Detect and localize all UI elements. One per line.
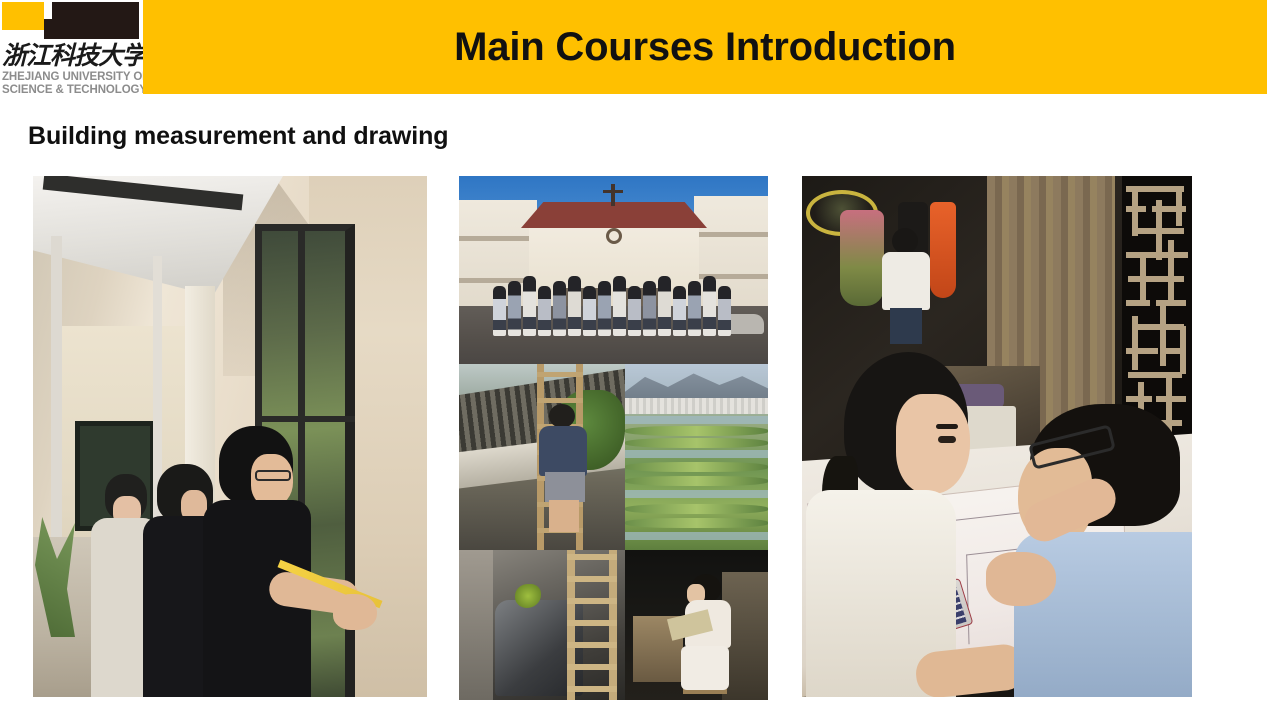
photo2-group-member xyxy=(493,286,506,336)
photo2-group-member xyxy=(598,281,611,336)
photo1-hand-on-wall xyxy=(333,594,377,630)
photo2-wooden-ladder xyxy=(567,550,617,700)
photo2-student-group xyxy=(493,274,733,336)
photo2-ladder-rung xyxy=(567,664,617,670)
logo-name-english-line2: SCIENCE & TECHNOLOGY xyxy=(2,84,143,97)
photo2-group-member xyxy=(583,286,596,336)
photo1-student-front xyxy=(197,426,337,697)
photo3-left-student-face xyxy=(896,394,970,494)
photo2-panel-landscape xyxy=(625,364,768,550)
photo2-landscape-band xyxy=(625,476,768,486)
photo2-climber-shirt xyxy=(539,426,587,476)
photo2-cross-icon xyxy=(611,184,615,206)
photo3-lattice-bar xyxy=(1132,316,1138,370)
photo-drafting-indoors xyxy=(802,176,1192,697)
photo3-left-student-eye xyxy=(938,436,956,443)
photo2-group-member xyxy=(628,286,641,336)
photo2-group-member xyxy=(553,281,566,336)
photo2-ladder-rung xyxy=(567,576,617,582)
photo2-group-member xyxy=(523,276,536,336)
photo3-lattice-bar xyxy=(1176,186,1182,226)
photo2-stone-wall xyxy=(459,550,493,700)
photo3-student-drawing-left xyxy=(820,352,1000,697)
photo1-window-rail xyxy=(255,416,355,422)
photo2-ladder-rung xyxy=(567,598,617,604)
photo2-panel-ladder-survey xyxy=(459,364,625,550)
slide-subtitle: Building measurement and drawing xyxy=(28,122,448,151)
photo2-group-member xyxy=(718,286,731,336)
photo2-landscape-band xyxy=(625,504,768,514)
photo3-lattice-bar xyxy=(1132,324,1184,330)
photo3-right-student-hand xyxy=(986,552,1056,606)
photo2-bottom-row xyxy=(459,550,768,700)
photo2-ladder-rung xyxy=(537,398,583,403)
photo2-student-sketching xyxy=(677,574,739,698)
photo1-canopy-post-left xyxy=(51,236,62,566)
logo-dark-rectangle-icon xyxy=(52,2,139,39)
photo2-ladder-rung xyxy=(567,554,617,560)
photo3-lattice-bar xyxy=(1140,252,1146,306)
photo3-lattice-bar xyxy=(1132,186,1138,236)
photo3-hanging-cloth-pink xyxy=(840,210,884,306)
photo2-cross-arm-icon xyxy=(603,190,623,193)
page-title: Main Courses Introduction xyxy=(143,0,1267,94)
photo3-lattice-bar xyxy=(1168,240,1174,300)
photo2-landscape-band xyxy=(625,518,768,528)
photo2-ladder-rung xyxy=(567,642,617,648)
photo3-lattice-bar xyxy=(1128,372,1182,378)
logo-mark xyxy=(2,2,141,44)
photo3-lattice-bar xyxy=(1126,348,1158,354)
photo2-group-member xyxy=(508,281,521,336)
photo2-group-member xyxy=(643,281,656,336)
photo3-lattice-bar xyxy=(1128,276,1184,282)
photo2-landscape-band xyxy=(625,426,768,436)
photo2-landscape-band xyxy=(625,462,768,472)
photo3-lattice-bar xyxy=(1126,300,1150,306)
photo2-climber-shorts xyxy=(545,472,585,502)
photo2-balcony-rail xyxy=(694,232,768,237)
photo2-group-member xyxy=(658,276,671,336)
photo-building-measurement xyxy=(33,176,427,697)
photo2-balcony-rail xyxy=(459,236,537,241)
photo2-panel-courtyard-ladder xyxy=(459,550,625,700)
photo2-clock-icon xyxy=(606,228,622,244)
photo2-ladder-rung xyxy=(567,686,617,692)
photo2-middle-row xyxy=(459,364,768,550)
photo2-group-member xyxy=(613,276,626,336)
photo2-sketcher-legs xyxy=(681,646,729,690)
photo3-background-person-body xyxy=(882,252,930,310)
photo3-lattice-bar xyxy=(1160,252,1188,258)
photo2-ladder-rung xyxy=(537,372,583,377)
logo-yellow-square-icon xyxy=(2,2,44,30)
photo3-left-student-eyebrow xyxy=(936,424,958,429)
photo3-background-person-head xyxy=(892,228,918,254)
photo2-student-on-ladder xyxy=(533,404,593,524)
photo-fieldwork-collage xyxy=(459,176,768,700)
photo2-ladder-rung xyxy=(567,620,617,626)
photo2-climber-head xyxy=(549,404,575,428)
photo2-panel-sketching xyxy=(625,550,768,700)
photo2-group-member xyxy=(538,286,551,336)
photo2-mountain-range xyxy=(625,368,768,402)
photo3-lattice-bar xyxy=(1160,304,1166,366)
photo2-landscape-band xyxy=(625,490,768,498)
photo1-student-front-glasses-icon xyxy=(255,470,291,481)
logo-name-english-line1: ZHEJIANG UNIVERSITY OF xyxy=(2,71,143,84)
photo3-background-person-legs xyxy=(890,308,922,344)
photo3-student-drawing-right xyxy=(996,404,1192,697)
photo2-distant-town xyxy=(625,398,768,414)
photo2-landscape-band xyxy=(625,438,768,448)
photo2-group-member xyxy=(703,276,716,336)
photo3-background-person xyxy=(880,228,934,338)
photo2-landscape-band xyxy=(625,416,768,424)
photo2-landscape-band xyxy=(625,532,768,540)
photo2-group-member xyxy=(688,281,701,336)
photo3-lattice-bar xyxy=(1156,200,1162,260)
logo-name-chinese: 浙江科技大学 xyxy=(2,42,141,70)
photo2-climber-legs xyxy=(549,500,579,532)
photo2-group-member xyxy=(568,276,581,336)
university-logo: 浙江科技大学 ZHEJIANG UNIVERSITY OF SCIENCE & … xyxy=(0,0,143,100)
photo2-landscape-band xyxy=(625,450,768,458)
photo3-lattice-bar xyxy=(1180,326,1186,374)
photo2-group-member xyxy=(673,286,686,336)
photo2-panel-group-photo xyxy=(459,176,768,364)
logo-dark-notch-icon xyxy=(44,19,54,39)
